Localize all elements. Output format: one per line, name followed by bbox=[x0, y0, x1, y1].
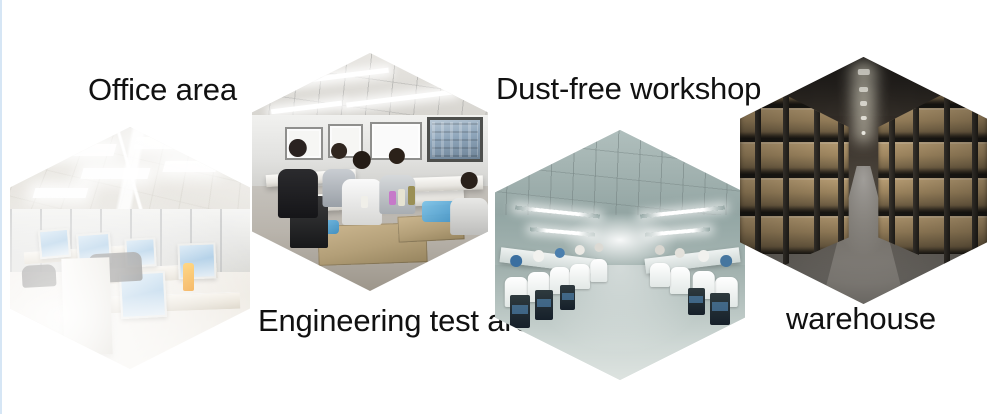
hexagon-photo-warehouse bbox=[740, 57, 987, 304]
left-edge-rule bbox=[0, 0, 2, 414]
hex-tile-engineering-test-area[interactable] bbox=[252, 53, 488, 291]
caption-warehouse: warehouse bbox=[786, 303, 936, 334]
hexagon-photo-cleanroom bbox=[495, 130, 745, 380]
hexagon-photo-office bbox=[10, 127, 250, 369]
hexagon-photo-engineering bbox=[252, 53, 488, 291]
caption-office-area: Office area bbox=[88, 74, 237, 105]
caption-dust-free-workshop: Dust-free workshop bbox=[496, 73, 761, 104]
hex-tile-warehouse[interactable] bbox=[740, 57, 987, 304]
hex-tile-office-area[interactable] bbox=[10, 127, 250, 369]
facility-gallery: Office area bbox=[0, 0, 990, 414]
hex-tile-dust-free-workshop[interactable] bbox=[495, 130, 745, 380]
